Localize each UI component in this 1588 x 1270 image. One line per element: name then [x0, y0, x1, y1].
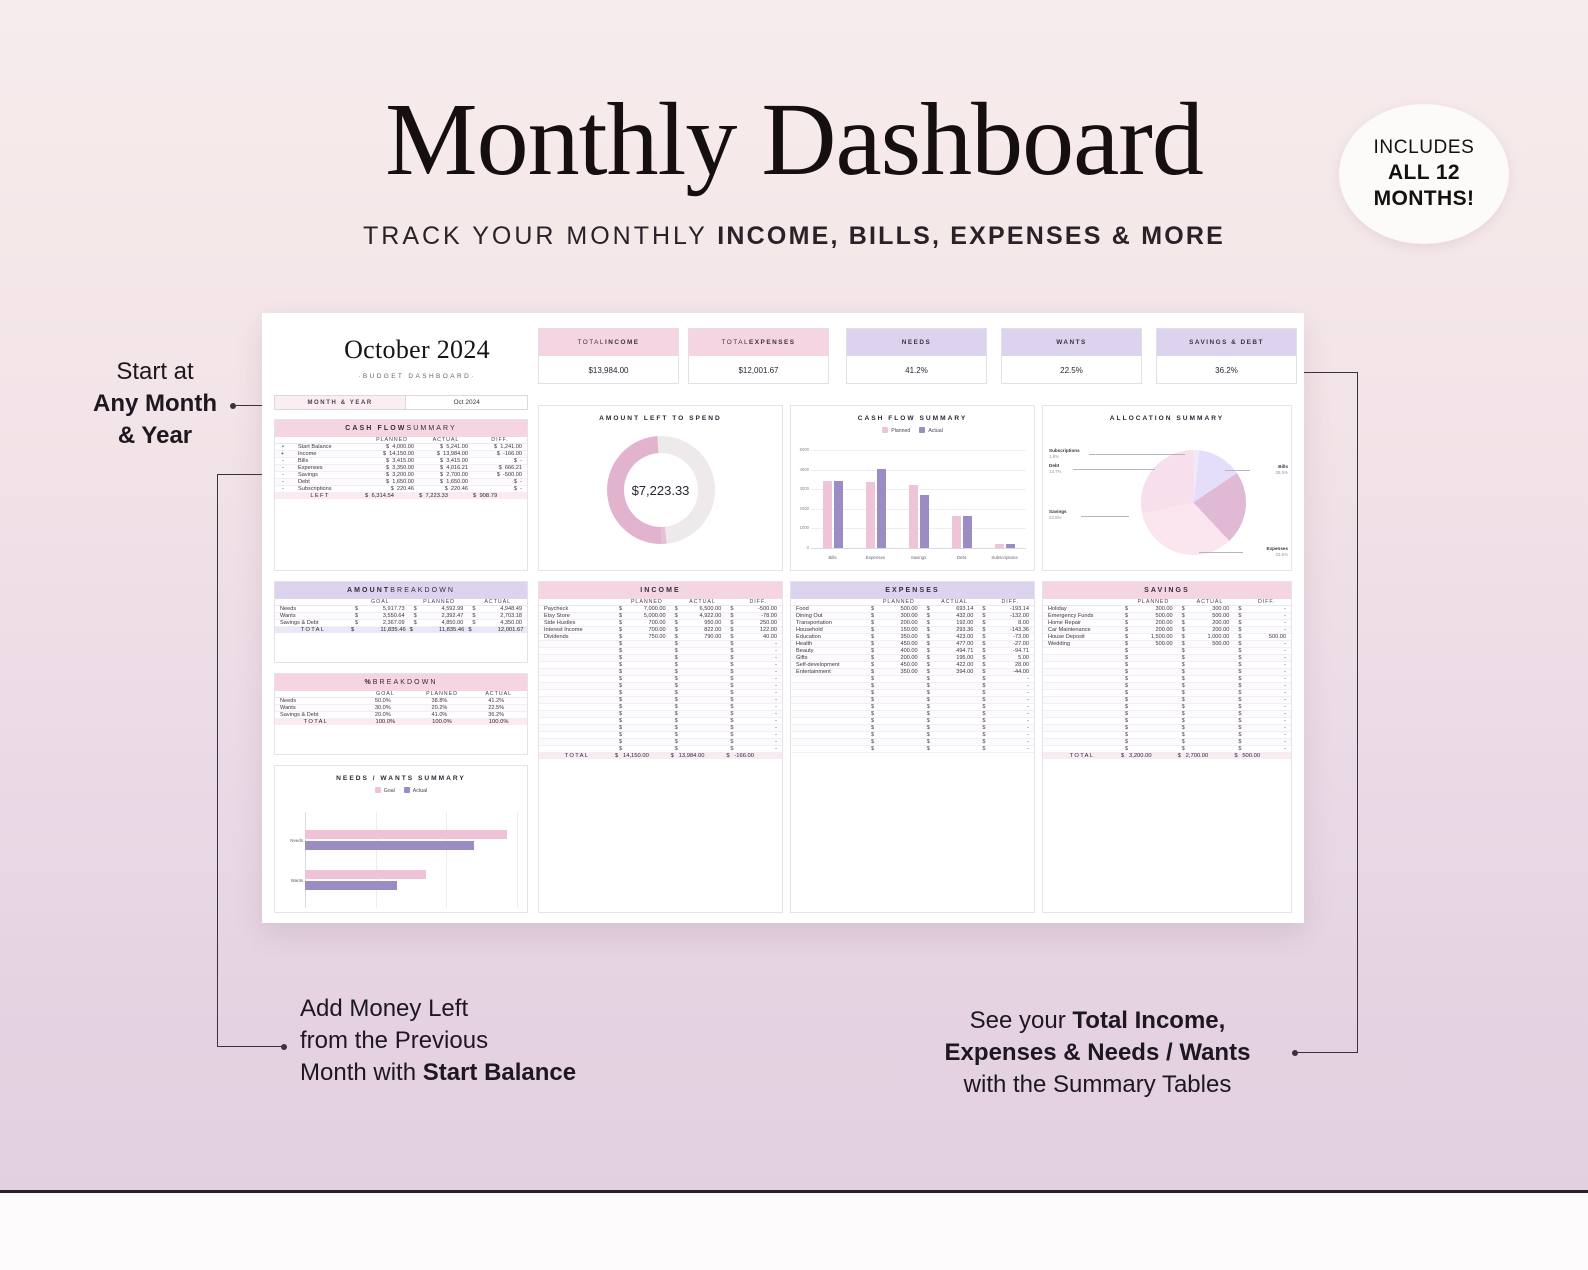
- month-year-picker[interactable]: MONTH & YEAR Oct 2024: [274, 395, 528, 410]
- leader-dot-left: [230, 403, 236, 409]
- sav-diff: -: [1242, 641, 1291, 648]
- exp-e-actual: [931, 732, 979, 739]
- sav-name: Car Maintenance: [1043, 627, 1121, 634]
- sav-c2: $: [1178, 620, 1186, 627]
- pb-total-actual: 100.0%: [470, 719, 527, 726]
- sav-e1: $: [1121, 676, 1129, 683]
- exp-c2: $: [923, 641, 931, 648]
- table-row-empty[interactable]: $$$-: [791, 690, 1034, 697]
- table-total-row: TOTAL100.0%100.0%100.0%: [275, 719, 527, 726]
- y-tick-label: 2000: [792, 506, 809, 511]
- inc-c1: $: [615, 620, 623, 627]
- inc-name: Side Hustles: [539, 620, 615, 627]
- sav-e3: $: [1234, 718, 1242, 725]
- inc-tc2: $: [671, 753, 679, 760]
- table-row-empty[interactable]: $$$-: [1043, 655, 1291, 662]
- sav-e-name: [1043, 725, 1121, 732]
- inc-e2: $: [671, 739, 679, 746]
- pb-name: Wants: [275, 705, 357, 712]
- badge-line-3: MONTHS!: [1374, 186, 1475, 212]
- inc-c1: $: [615, 606, 623, 613]
- hbar-goal: [305, 870, 426, 879]
- cf-actual: $ 5,241.00: [419, 444, 473, 451]
- inc-e2: $: [671, 662, 679, 669]
- sav-e-actual: [1186, 697, 1235, 704]
- sav-name: Holiday: [1043, 606, 1121, 613]
- inc-e-planned: [623, 648, 671, 655]
- sav-e-actual: [1186, 669, 1235, 676]
- inc-e-diff: -: [734, 725, 782, 732]
- exp-e2: $: [923, 690, 931, 697]
- needs-wants-chart-title: NEEDS / WANTS SUMMARY: [275, 766, 527, 782]
- x-tick-label: Expenses: [856, 555, 896, 560]
- legend-actual: Actual: [919, 427, 942, 434]
- pie-leader-savings: [1081, 516, 1129, 517]
- hbar-actual: [305, 881, 397, 890]
- exp-diff: 8.00: [986, 620, 1034, 627]
- legend-planned: Planned: [882, 427, 910, 434]
- sav-actual: 200.00: [1186, 620, 1235, 627]
- ab-total-planned: 11,835.46: [439, 627, 468, 634]
- table-row-empty[interactable]: $$$-: [539, 746, 782, 753]
- subtitle-light: TRACK YOUR MONTHLY: [363, 222, 717, 250]
- callout-start-any-month: Start at Any Month & Year: [60, 356, 250, 452]
- table-row-empty[interactable]: $$$-: [539, 697, 782, 704]
- table-row-empty[interactable]: $$$-: [791, 739, 1034, 746]
- bar-planned: [823, 481, 832, 548]
- table-row-empty[interactable]: $$$-: [539, 669, 782, 676]
- exp-e3: $: [978, 704, 986, 711]
- ab-cur2: $: [410, 606, 439, 613]
- sav-e3: $: [1234, 683, 1242, 690]
- table-row-empty[interactable]: $$$-: [1043, 718, 1291, 725]
- exp-diff: -27.00: [986, 641, 1034, 648]
- sav-e-planned: [1129, 732, 1178, 739]
- inc-e-name: [539, 718, 615, 725]
- sav-e3: $: [1234, 711, 1242, 718]
- inc-e-name: [539, 746, 615, 753]
- table-row: Wants30.0%20.2%22.5%: [275, 705, 527, 712]
- inc-e3: $: [726, 683, 734, 690]
- table-row: Savings & Debt$2,367.09$4,850.00$4,350.0…: [275, 620, 527, 627]
- table-row-empty[interactable]: $$$-: [791, 711, 1034, 718]
- sav-e3: $: [1234, 655, 1242, 662]
- exp-e-name: [791, 718, 867, 725]
- inc-e1: $: [615, 655, 623, 662]
- sav-e-planned: [1129, 648, 1178, 655]
- exp-name: Beauty: [791, 648, 867, 655]
- inc-e1: $: [615, 725, 623, 732]
- sav-e3: $: [1234, 732, 1242, 739]
- inc-e-actual: [679, 704, 727, 711]
- exp-e2: $: [923, 746, 931, 753]
- cf-actual: $ 4,016.21: [419, 465, 473, 472]
- savings-title: SAVINGS: [1043, 582, 1291, 599]
- cf-planned: $ 3,200.00: [365, 472, 419, 479]
- table-row-empty[interactable]: $$$-: [791, 683, 1034, 690]
- exp-e3: $: [978, 718, 986, 725]
- sav-e1: $: [1121, 725, 1129, 732]
- exp-actual: 422.00: [931, 662, 979, 669]
- inc-actual: 822.00: [679, 627, 727, 634]
- inc-c2: $: [671, 606, 679, 613]
- cash-flow-grid: PLANNED ACTUAL DIFF. •Start Balance$ 4,0…: [275, 437, 527, 499]
- sav-e3: $: [1234, 725, 1242, 732]
- y-tick-label: 3000: [792, 486, 809, 491]
- sav-e-planned: [1129, 697, 1178, 704]
- gridline-vertical: [446, 812, 447, 908]
- inc-e2: $: [671, 676, 679, 683]
- sav-actual: 300.00: [1186, 606, 1235, 613]
- subtitle-bold: INCOME, BILLS, EXPENSES & MORE: [717, 222, 1225, 250]
- sav-e1: $: [1121, 648, 1129, 655]
- sav-e2: $: [1178, 739, 1186, 746]
- exp-e1: $: [867, 683, 875, 690]
- gridline-vertical: [517, 812, 518, 908]
- sav-e-name: [1043, 648, 1121, 655]
- table-row-empty[interactable]: $$$-: [539, 711, 782, 718]
- table-row-empty[interactable]: $$$-: [791, 676, 1034, 683]
- cf-planned: $ 220.46: [365, 486, 419, 493]
- exp-e-planned: [875, 690, 923, 697]
- exp-e-diff: -: [986, 718, 1034, 725]
- exp-e-actual: [931, 697, 979, 704]
- cf-total-label: LEFT: [275, 493, 365, 500]
- sav-e-planned: [1129, 704, 1178, 711]
- kpi-total-expenses: TOTAL EXPENSES $12,001.67: [688, 328, 829, 384]
- exp-e1: $: [867, 718, 875, 725]
- y-tick-label: 0: [792, 545, 809, 550]
- exp-c3: $: [978, 648, 986, 655]
- table-row: •Start Balance$ 4,000.00$ 5,241.00$ 1,24…: [275, 444, 527, 451]
- inc-name: Etsy Store: [539, 613, 615, 620]
- sav-e-actual: [1186, 711, 1235, 718]
- table-row-empty[interactable]: $$$-: [1043, 648, 1291, 655]
- table-row: Etsy Store$5,000.00$4,922.00$-78.00: [539, 613, 782, 620]
- table-row-empty[interactable]: $$$-: [1043, 732, 1291, 739]
- y-category-label: Needs: [277, 838, 303, 843]
- sav-e2: $: [1178, 725, 1186, 732]
- inc-e-name: [539, 711, 615, 718]
- sav-e2: $: [1178, 746, 1186, 753]
- inc-e3: $: [726, 704, 734, 711]
- table-row-empty[interactable]: $$$-: [1043, 662, 1291, 669]
- exp-e1: $: [867, 732, 875, 739]
- table-row-empty[interactable]: $$$-: [539, 732, 782, 739]
- table-row-empty[interactable]: $$$-: [539, 683, 782, 690]
- exp-planned: 150.00: [875, 627, 923, 634]
- exp-e3: $: [978, 732, 986, 739]
- sav-e1: $: [1121, 697, 1129, 704]
- table-row: Emergency Funds$500.00$500.00$-: [1043, 613, 1291, 620]
- bar-actual: [834, 481, 843, 548]
- sav-e-name: [1043, 746, 1121, 753]
- exp-c3: $: [978, 634, 986, 641]
- inc-e2: $: [671, 704, 679, 711]
- inc-e1: $: [615, 641, 623, 648]
- cf-marker: -: [275, 479, 293, 486]
- exp-c1: $: [867, 620, 875, 627]
- table-row: Wedding$500.00$500.00$-: [1043, 641, 1291, 648]
- exp-e-diff: -: [986, 725, 1034, 732]
- inc-e-diff: -: [734, 732, 782, 739]
- inc-e-planned: [623, 746, 671, 753]
- exp-e2: $: [923, 697, 931, 704]
- bar-group: [909, 485, 929, 548]
- inc-e1: $: [615, 746, 623, 753]
- gridline: [811, 470, 1026, 471]
- ab-tc2: $: [410, 627, 439, 634]
- sav-e-name: [1043, 697, 1121, 704]
- exp-e-planned: [875, 732, 923, 739]
- exp-name: Transportation: [791, 620, 867, 627]
- sav-c1: $: [1121, 627, 1129, 634]
- exp-actual: 394.00: [931, 669, 979, 676]
- exp-e-diff: -: [986, 739, 1034, 746]
- sav-e-name: [1043, 676, 1121, 683]
- inc-e3: $: [726, 690, 734, 697]
- kpi-wants-value: 22.5%: [1002, 356, 1141, 384]
- exp-e-actual: [931, 683, 979, 690]
- exp-e3: $: [978, 746, 986, 753]
- inc-e-actual: [679, 655, 727, 662]
- table-row-empty[interactable]: $$$-: [1043, 746, 1291, 753]
- exp-c1: $: [867, 641, 875, 648]
- table-row-empty[interactable]: $$$-: [539, 655, 782, 662]
- sav-actual: 500.00: [1186, 641, 1235, 648]
- needs-wants-legend: Goal Actual: [275, 787, 527, 794]
- inc-planned: 750.00: [623, 634, 671, 641]
- table-row-empty[interactable]: $$$-: [1043, 683, 1291, 690]
- ab-actual: 2,703.18: [498, 613, 527, 620]
- table-row-empty[interactable]: $$$-: [539, 704, 782, 711]
- exp-e-planned: [875, 739, 923, 746]
- inc-diff: 250.00: [734, 620, 782, 627]
- kpi-total-income: TOTAL INCOME $13,984.00: [538, 328, 679, 384]
- inc-e-diff: -: [734, 697, 782, 704]
- allocation-chart-title: ALLOCATION SUMMARY: [1043, 406, 1291, 422]
- table-row-empty[interactable]: $$$-: [791, 725, 1034, 732]
- pb-planned: 38.8%: [414, 698, 471, 705]
- table-row-empty[interactable]: $$$-: [791, 718, 1034, 725]
- exp-planned: 200.00: [875, 620, 923, 627]
- sav-e-name: [1043, 704, 1121, 711]
- inc-e-actual: [679, 697, 727, 704]
- inc-e-actual: [679, 669, 727, 676]
- inc-e3: $: [726, 641, 734, 648]
- bar-group: [866, 469, 886, 548]
- inc-name: Dividends: [539, 634, 615, 641]
- sav-diff: -: [1242, 613, 1291, 620]
- leader-dot-bl: [281, 1044, 287, 1050]
- table-row: -Debt$ 1,650.00$ 1,650.00$ -: [275, 479, 527, 486]
- exp-e-actual: [931, 690, 979, 697]
- ab-cur1: $: [351, 613, 380, 620]
- sav-c1: $: [1121, 606, 1129, 613]
- table-row: Food$500.00$693.14$-193.14: [791, 606, 1034, 613]
- inc-e-name: [539, 683, 615, 690]
- exp-e-actual: [931, 718, 979, 725]
- table-row: -Bills$ 3,415.00$ 3,415.00$ -: [275, 458, 527, 465]
- table-row-empty[interactable]: $$$-: [1043, 669, 1291, 676]
- badge-line-1: INCLUDES: [1374, 136, 1475, 160]
- sav-c1: $: [1121, 613, 1129, 620]
- exp-c1: $: [867, 648, 875, 655]
- exp-c2: $: [923, 648, 931, 655]
- exp-planned: 450.00: [875, 662, 923, 669]
- inc-e-name: [539, 648, 615, 655]
- exp-c3: $: [978, 613, 986, 620]
- sav-planned: 1,500.00: [1129, 634, 1178, 641]
- sav-e-diff: -: [1242, 711, 1291, 718]
- ab-cur2: $: [410, 613, 439, 620]
- sav-e1: $: [1121, 711, 1129, 718]
- cf-name: Expenses: [293, 465, 365, 472]
- exp-e-planned: [875, 697, 923, 704]
- table-row-empty[interactable]: $$$-: [791, 732, 1034, 739]
- x-tick-label: Bills: [813, 555, 853, 560]
- exp-e1: $: [867, 704, 875, 711]
- legend-goal: Goal: [375, 787, 395, 794]
- sav-e-actual: [1186, 683, 1235, 690]
- inc-actual: 4,922.00: [679, 613, 727, 620]
- sav-e1: $: [1121, 732, 1129, 739]
- sav-e3: $: [1234, 676, 1242, 683]
- table-row: Needs50.0%38.8%41.2%: [275, 698, 527, 705]
- gridline: [811, 450, 1026, 451]
- inc-e-diff: -: [734, 676, 782, 683]
- exp-diff: -44.00: [986, 669, 1034, 676]
- exp-c2: $: [923, 669, 931, 676]
- table-row-empty[interactable]: $$$-: [1043, 725, 1291, 732]
- inc-e-name: [539, 725, 615, 732]
- inc-e-name: [539, 655, 615, 662]
- exp-actual: 477.00: [931, 641, 979, 648]
- exp-e-diff: -: [986, 683, 1034, 690]
- exp-e-name: [791, 690, 867, 697]
- table-row-empty[interactable]: $$$-: [539, 739, 782, 746]
- exp-c3: $: [978, 662, 986, 669]
- cash-flow-bar-chart-card: CASH FLOW SUMMARY Planned Actual 0100020…: [790, 405, 1035, 571]
- sav-e-name: [1043, 683, 1121, 690]
- income-grid: PLANNED ACTUAL DIFF. Paycheck$7,000.00$6…: [539, 599, 782, 759]
- table-row-empty[interactable]: $$$-: [539, 690, 782, 697]
- table-row-empty[interactable]: $$$-: [539, 718, 782, 725]
- ab-cur1: $: [351, 620, 380, 627]
- table-row-empty[interactable]: $$$-: [539, 648, 782, 655]
- table-row-empty[interactable]: $$$-: [1043, 676, 1291, 683]
- amount-breakdown-title: AMOUNT BREAKDOWN: [275, 582, 527, 599]
- inc-e-actual: [679, 662, 727, 669]
- ab-goal: 3,550.64: [380, 613, 409, 620]
- table-row-empty[interactable]: $$$-: [791, 704, 1034, 711]
- inc-c2: $: [671, 634, 679, 641]
- table-row: +Income$ 14,150.00$ 13,984.00$ -166.00: [275, 451, 527, 458]
- cash-flow-plot-area: 010002000300040005000BillsExpensesSaving…: [811, 450, 1026, 548]
- table-row-empty[interactable]: $$$-: [1043, 739, 1291, 746]
- ab-total-goal: 11,835.46: [380, 627, 409, 634]
- pie-label-expenses: Expenses33.5%: [1243, 546, 1288, 558]
- pb-planned: 20.2%: [414, 705, 471, 712]
- sav-actual: 200.00: [1186, 627, 1235, 634]
- table-row-empty[interactable]: $$$-: [539, 641, 782, 648]
- sav-e-diff: -: [1242, 746, 1291, 753]
- sav-e3: $: [1234, 739, 1242, 746]
- exp-c3: $: [978, 655, 986, 662]
- sav-e-actual: [1186, 648, 1235, 655]
- kpi-total-income-label: TOTAL INCOME: [539, 329, 678, 356]
- table-row-empty[interactable]: $$$-: [791, 746, 1034, 753]
- pct-breakdown-title: % BREAKDOWN: [275, 674, 527, 691]
- table-row-empty[interactable]: $$$-: [1043, 704, 1291, 711]
- month-year-value[interactable]: Oct 2024: [405, 396, 527, 409]
- inc-name: Paycheck: [539, 606, 615, 613]
- table-row-empty[interactable]: $$$-: [791, 697, 1034, 704]
- table-row-empty[interactable]: $$$-: [1043, 690, 1291, 697]
- table-row-empty[interactable]: $$$-: [539, 676, 782, 683]
- inc-e-planned: [623, 732, 671, 739]
- pie-leader-expenses: [1199, 552, 1243, 553]
- sav-e-planned: [1129, 746, 1178, 753]
- exp-c2: $: [923, 606, 931, 613]
- table-row-empty[interactable]: $$$-: [539, 725, 782, 732]
- inc-e-actual: [679, 690, 727, 697]
- includes-all-months-badge: INCLUDES ALL 12 MONTHS!: [1339, 104, 1509, 244]
- inc-e2: $: [671, 690, 679, 697]
- inc-actual: 6,500.00: [679, 606, 727, 613]
- inc-e3: $: [726, 746, 734, 753]
- exp-e3: $: [978, 690, 986, 697]
- table-row-empty[interactable]: $$$-: [1043, 711, 1291, 718]
- exp-e3: $: [978, 676, 986, 683]
- table-row-empty[interactable]: $$$-: [539, 662, 782, 669]
- sav-e1: $: [1121, 669, 1129, 676]
- cf-planned: $ 3,350.00: [365, 465, 419, 472]
- exp-planned: 400.00: [875, 648, 923, 655]
- sav-e-planned: [1129, 683, 1178, 690]
- table-row-empty[interactable]: $$$-: [1043, 697, 1291, 704]
- exp-e-actual: [931, 746, 979, 753]
- table-row: -Expenses$ 3,350.00$ 4,016.21$ 666.21: [275, 465, 527, 472]
- sav-e2: $: [1178, 676, 1186, 683]
- exp-name: Household: [791, 627, 867, 634]
- sav-c3: $: [1234, 627, 1242, 634]
- sav-e-planned: [1129, 718, 1178, 725]
- table-row: Household$150.00$293.36$-143.36: [791, 627, 1034, 634]
- pie-leader-bills: [1225, 470, 1250, 471]
- inc-c3: $: [726, 627, 734, 634]
- exp-name: Entertainment: [791, 669, 867, 676]
- pb-goal: 50.0%: [357, 698, 414, 705]
- sav-e-diff: -: [1242, 725, 1291, 732]
- inc-e-name: [539, 704, 615, 711]
- sav-e-diff: -: [1242, 655, 1291, 662]
- callout-left-line-3: & Year: [60, 420, 250, 452]
- exp-e2: $: [923, 732, 931, 739]
- cf-diff: $ -500.00: [473, 472, 527, 479]
- sav-e3: $: [1234, 648, 1242, 655]
- pb-actual: 22.5%: [470, 705, 527, 712]
- inc-e-name: [539, 641, 615, 648]
- sav-e-name: [1043, 662, 1121, 669]
- inc-e-planned: [623, 725, 671, 732]
- sav-diff: -: [1242, 606, 1291, 613]
- inc-e1: $: [615, 739, 623, 746]
- inc-e3: $: [726, 676, 734, 683]
- sav-c3: $: [1234, 613, 1242, 620]
- pb-actual: 41.2%: [470, 698, 527, 705]
- sav-e2: $: [1178, 662, 1186, 669]
